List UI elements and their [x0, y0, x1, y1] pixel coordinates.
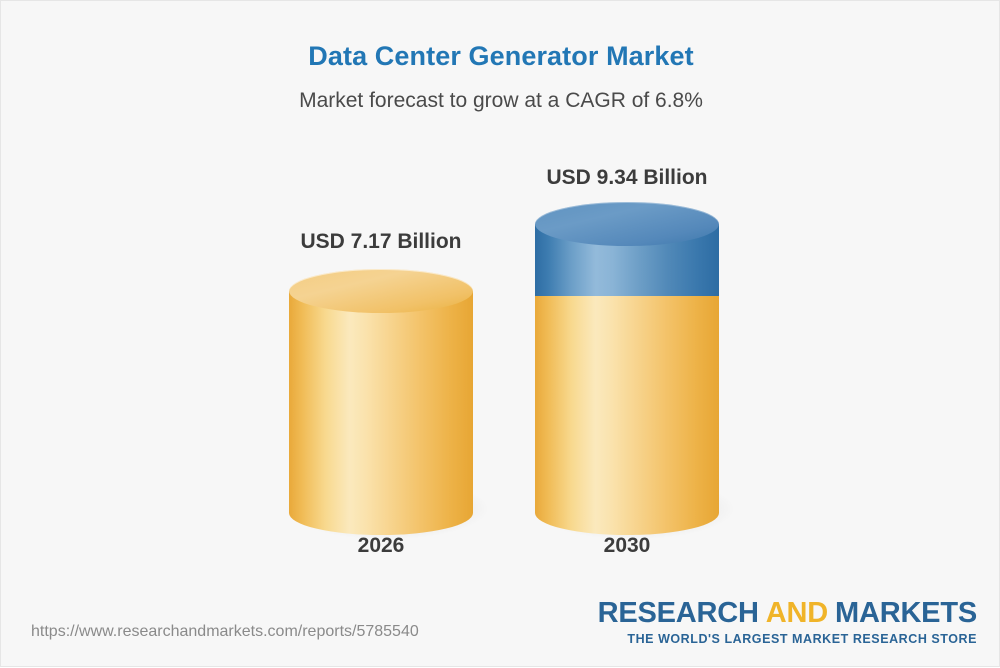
- source-url[interactable]: https://www.researchandmarkets.com/repor…: [31, 623, 419, 641]
- cylinder-2026-body: [289, 291, 473, 513]
- brand-logo: RESEARCHANDMARKETS THE WORLD'S LARGEST M…: [598, 599, 977, 646]
- cylinder-2030-top-cap: [535, 202, 719, 246]
- brand-word-markets: MARKETS: [835, 597, 977, 629]
- chart-canvas: Data Center Generator Market Market fore…: [0, 0, 1000, 667]
- category-label-2030: 2030: [535, 534, 719, 558]
- cylinder-2030-base-body: [535, 296, 719, 513]
- cylinder-2026: [289, 269, 473, 513]
- brand-name: RESEARCHANDMARKETS: [598, 599, 977, 628]
- cylinder-2026-bottom-cap: [289, 491, 473, 535]
- category-label-2026: 2026: [289, 534, 473, 558]
- data-label-2026: USD 7.17 Billion: [289, 230, 473, 254]
- data-label-2030: USD 9.34 Billion: [535, 166, 719, 190]
- brand-tagline: THE WORLD'S LARGEST MARKET RESEARCH STOR…: [598, 632, 977, 646]
- brand-word-and: AND: [766, 597, 828, 629]
- cylinder-2026-top-cap: [289, 269, 473, 313]
- cylinder-2030: [535, 202, 719, 513]
- chart-plot-area: USD 7.17 Billion 2026 USD 9.34 Billion 2…: [1, 1, 1000, 668]
- cylinder-2030-bottom-cap: [535, 491, 719, 535]
- brand-word-research: RESEARCH: [598, 597, 759, 629]
